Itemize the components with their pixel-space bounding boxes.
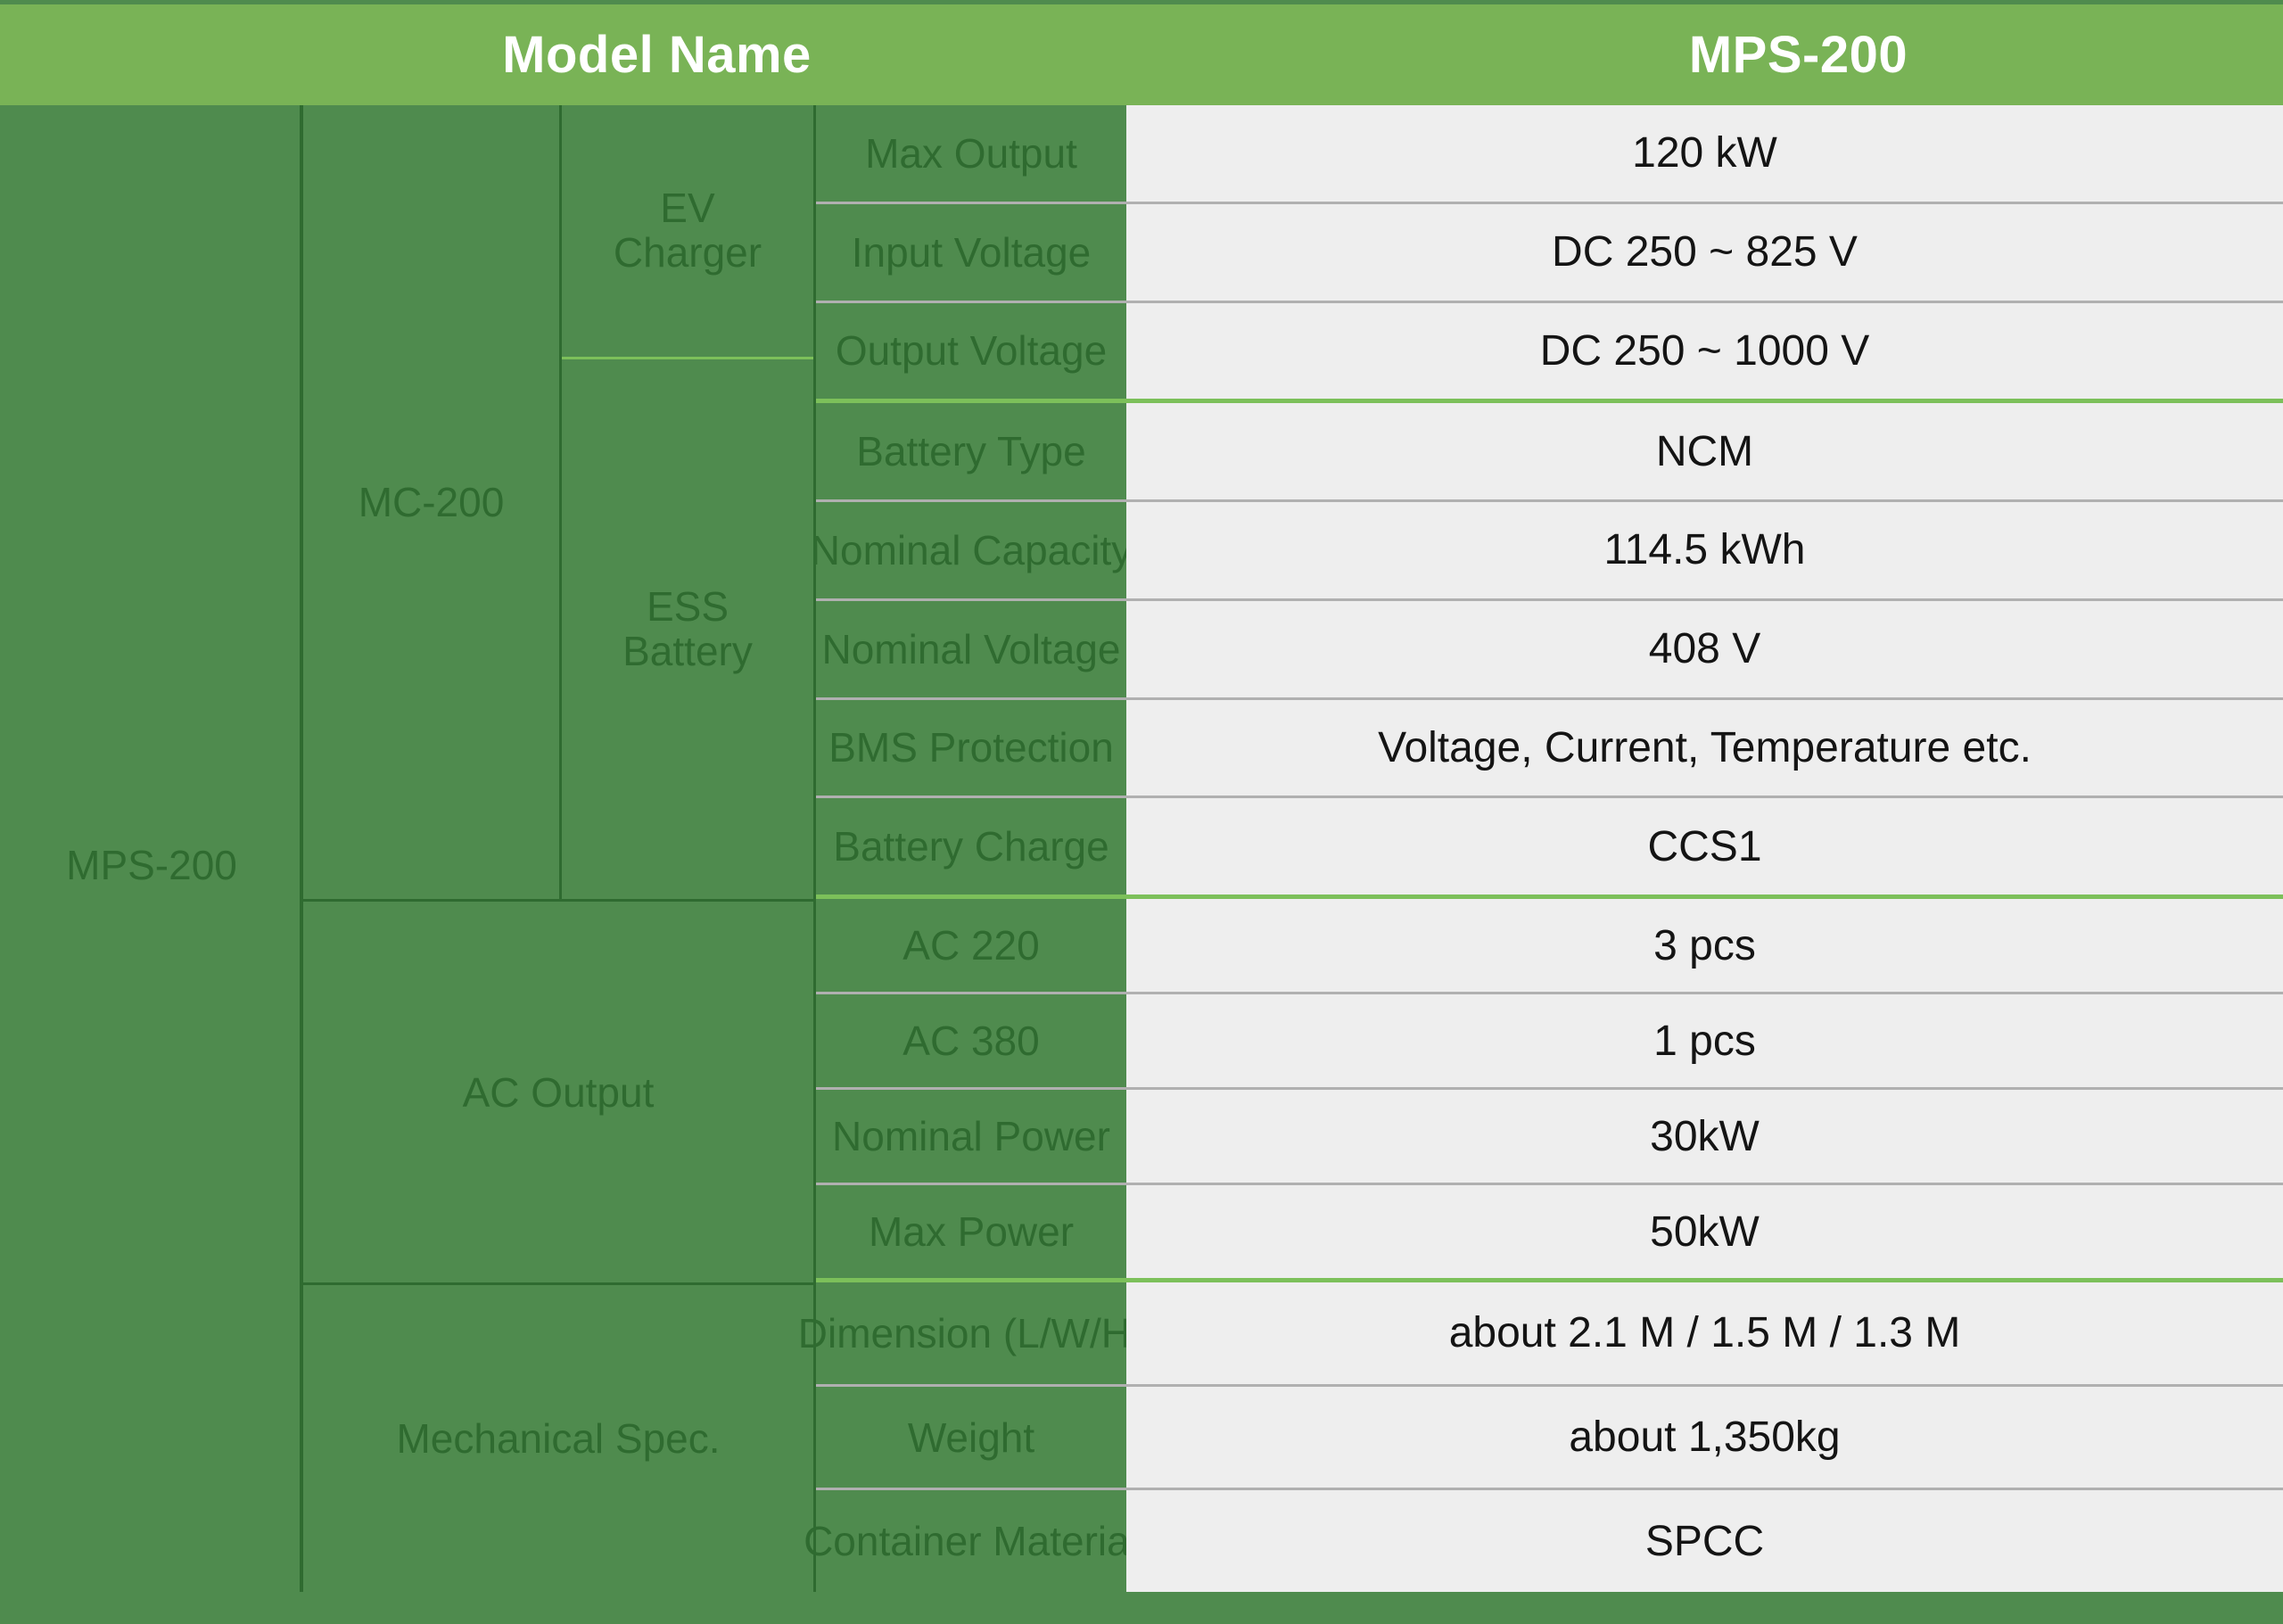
table-row: Nominal Voltage 408 V xyxy=(816,601,2283,700)
row-value: DC 250 ~ 825 V xyxy=(1126,204,2283,301)
block-ac-output: AC Output AC 220 3 pcs AC 380 1 pcs Nomi… xyxy=(0,899,2283,1282)
row-value: 120 kW xyxy=(1126,105,2283,202)
header-model-value: MPS-200 xyxy=(1314,4,2283,105)
table-row: Battery Type NCM xyxy=(816,403,2283,502)
product-spine-middle xyxy=(0,899,303,1282)
rows-ac-output: AC 220 3 pcs AC 380 1 pcs Nominal Power … xyxy=(816,899,2283,1282)
table-body: MC-200 EV Charger ESS Battery xyxy=(0,105,2283,1624)
row-label: BMS Protection xyxy=(816,700,1126,796)
ev-charger-line-2: Charger xyxy=(614,229,762,276)
table-row: BMS Protection Voltage, Current, Tempera… xyxy=(816,700,2283,799)
row-label: AC 220 xyxy=(816,899,1126,992)
row-value: SPCC xyxy=(1126,1490,2283,1592)
row-value: about 1,350kg xyxy=(1126,1387,2283,1488)
row-value: DC 250 ~ 1000 V xyxy=(1126,303,2283,400)
row-label: Input Voltage xyxy=(816,204,1126,301)
table-row: Max Output 120 kW xyxy=(816,105,2283,204)
table-row: AC 380 1 pcs xyxy=(816,994,2283,1090)
table-row: Nominal Capacity 114.5 kWh xyxy=(816,502,2283,601)
table-row: Nominal Power 30kW xyxy=(816,1090,2283,1185)
table-row: Container Material SPCC xyxy=(816,1490,2283,1592)
row-value: 114.5 kWh xyxy=(1126,502,2283,598)
table-row: Dimension (L/W/H) about 2.1 M / 1.5 M / … xyxy=(816,1282,2283,1387)
block-mechanical-spec: MPS-200 Mechanical Spec. Dimension (L/W/… xyxy=(0,1282,2283,1592)
block-mc-200: MC-200 EV Charger ESS Battery xyxy=(0,105,2283,899)
row-label: Nominal Voltage xyxy=(816,601,1126,697)
row-value: about 2.1 M / 1.5 M / 1.3 M xyxy=(1126,1282,2283,1384)
row-label: Battery Charge xyxy=(816,798,1126,894)
table-row: Battery Charge CCS1 xyxy=(816,798,2283,899)
product-spine-top xyxy=(0,105,303,899)
table-row: Max Power 50kW xyxy=(816,1185,2283,1282)
row-label: Output Voltage xyxy=(816,303,1126,400)
rows-mc-200: Max Output 120 kW Input Voltage DC 250 ~… xyxy=(816,105,2283,899)
row-label: Max Output xyxy=(816,105,1126,202)
row-value: 1 pcs xyxy=(1126,994,2283,1087)
table-row: Output Voltage DC 250 ~ 1000 V xyxy=(816,303,2283,404)
row-label: Battery Type xyxy=(816,403,1126,499)
module-mc-200: MC-200 xyxy=(303,105,562,899)
group-mechanical-spec: Mechanical Spec. xyxy=(303,1282,816,1592)
header-model-name: Model Name xyxy=(0,4,1314,105)
row-value: 408 V xyxy=(1126,601,2283,697)
rows-mechanical-spec: Dimension (L/W/H) about 2.1 M / 1.5 M / … xyxy=(816,1282,2283,1592)
table-bottom-band xyxy=(0,1592,2283,1624)
specification-table: Model Name MPS-200 MC-200 EV Charger xyxy=(0,0,2283,1624)
subgroup-column: EV Charger ESS Battery xyxy=(562,105,816,899)
subgroup-ev-charger: EV Charger xyxy=(562,105,813,359)
ess-battery-line-2: Battery xyxy=(622,628,753,674)
row-label: Dimension (L/W/H) xyxy=(816,1282,1126,1384)
row-value: 30kW xyxy=(1126,1090,2283,1183)
product-spine-label: MPS-200 xyxy=(0,1282,303,1592)
table-row: Weight about 1,350kg xyxy=(816,1387,2283,1491)
row-label: Max Power xyxy=(816,1185,1126,1278)
row-value: CCS1 xyxy=(1126,798,2283,894)
row-label: Container Material xyxy=(816,1490,1126,1592)
row-label: Nominal Capacity xyxy=(816,502,1126,598)
ev-charger-line-1: EV xyxy=(660,185,714,231)
group-ac-output: AC Output xyxy=(303,899,816,1282)
subgroup-ess-battery: ESS Battery xyxy=(562,359,813,899)
ess-battery-line-1: ESS xyxy=(647,583,729,630)
row-value: NCM xyxy=(1126,403,2283,499)
table-row: AC 220 3 pcs xyxy=(816,899,2283,994)
row-value: 50kW xyxy=(1126,1185,2283,1278)
row-value: Voltage, Current, Temperature etc. xyxy=(1126,700,2283,796)
row-value: 3 pcs xyxy=(1126,899,2283,992)
table-row: Input Voltage DC 250 ~ 825 V xyxy=(816,204,2283,303)
table-header-row: Model Name MPS-200 xyxy=(0,0,2283,105)
row-label: Weight xyxy=(816,1387,1126,1488)
row-label: Nominal Power xyxy=(816,1090,1126,1183)
row-label: AC 380 xyxy=(816,994,1126,1087)
